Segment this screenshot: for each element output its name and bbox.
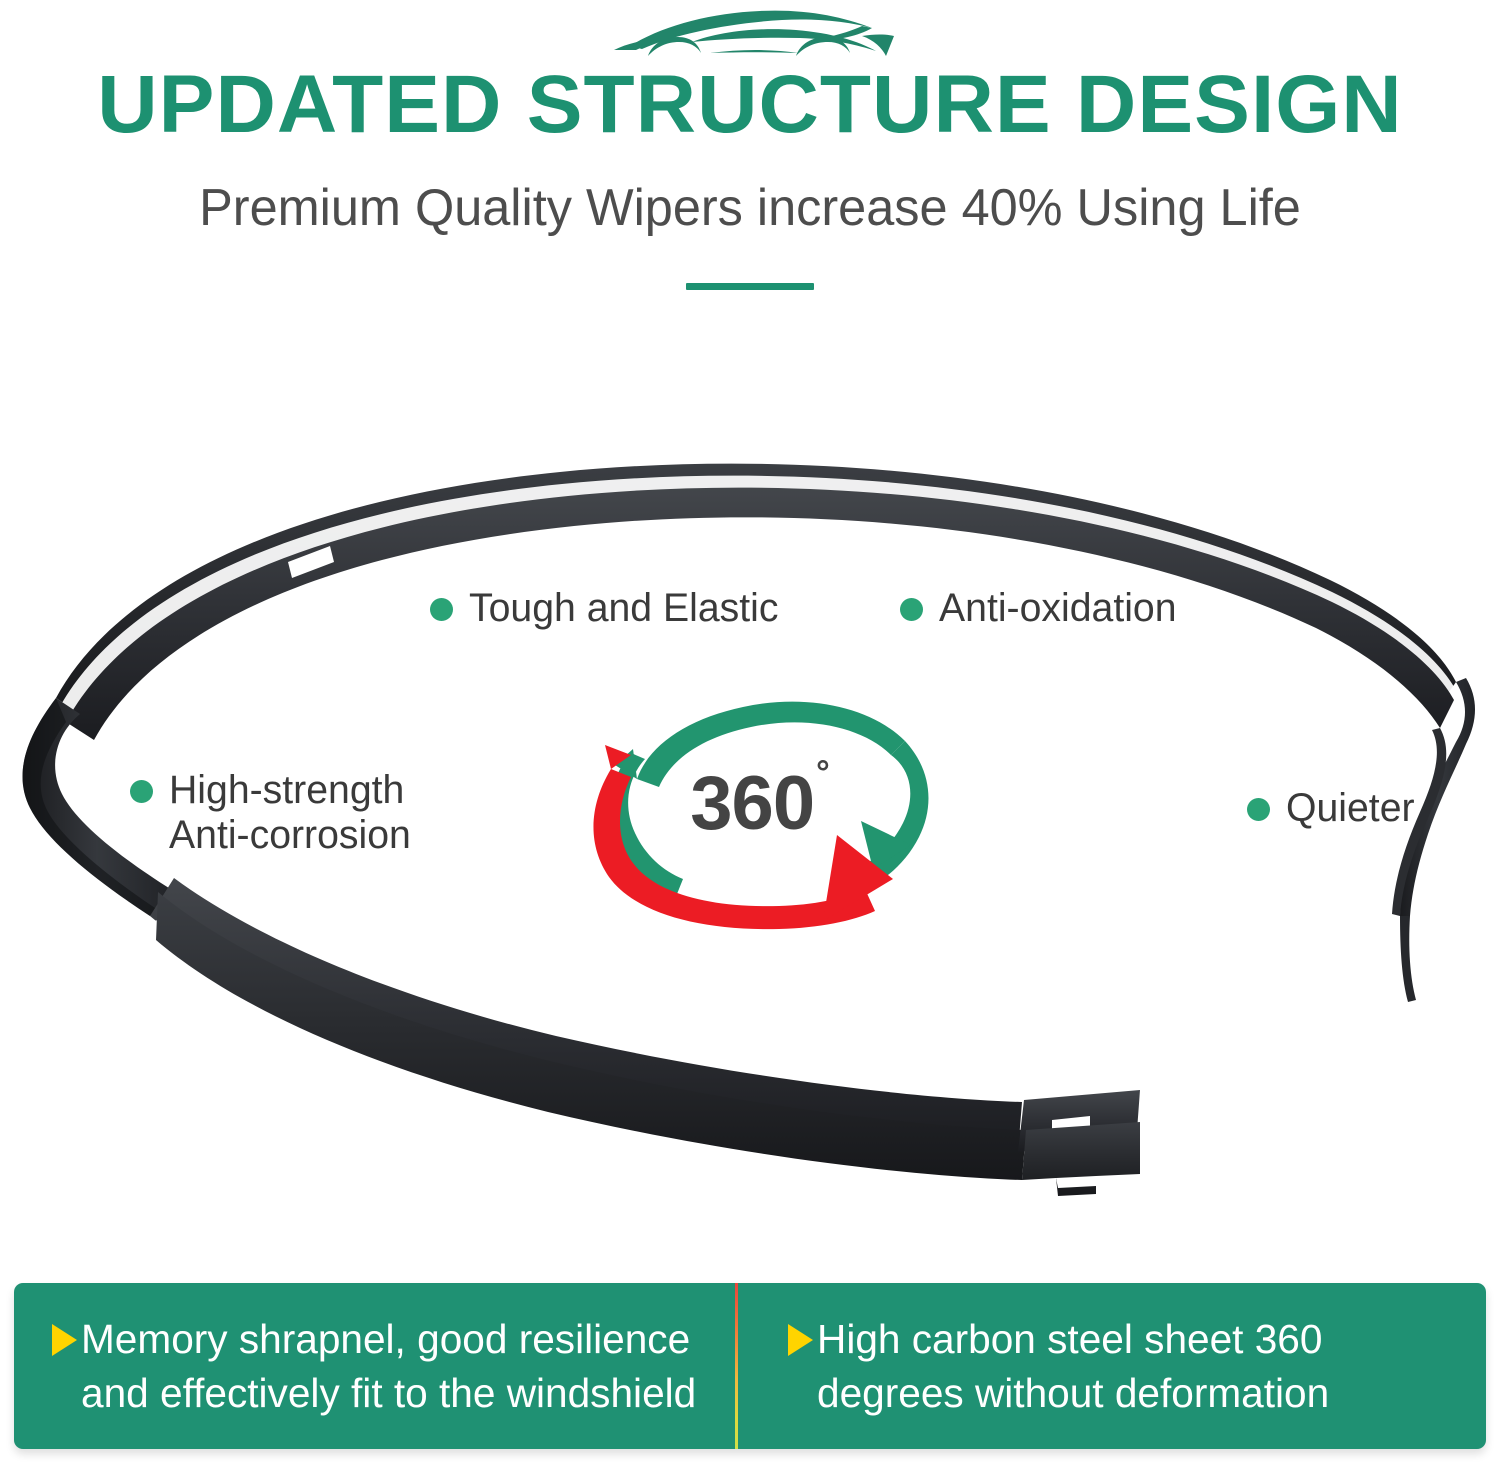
title-underline-rule xyxy=(686,283,814,290)
feature-label: Quieter xyxy=(1286,786,1415,831)
bottom-feature-banner: Memory shrapnel, good resilience and eff… xyxy=(14,1283,1486,1449)
page-title: UPDATED STRUCTURE DESIGN xyxy=(0,62,1500,148)
badge-360-degrees: 360 ° xyxy=(575,693,955,938)
banner-panel-memory-shrapnel: Memory shrapnel, good resilience and eff… xyxy=(14,1283,750,1449)
green-arc-upper xyxy=(637,702,905,787)
strip-notch-top-2 xyxy=(318,582,364,614)
feature-label: Tough and Elastic xyxy=(469,586,778,631)
sports-car-silhouette-icon xyxy=(600,6,900,62)
feature-label: Anti-oxidation xyxy=(939,586,1177,631)
triangle-bullet-icon xyxy=(52,1324,77,1356)
bullet-dot-icon xyxy=(1247,798,1270,821)
banner-panel-text: Memory shrapnel, good resilience and eff… xyxy=(81,1312,722,1420)
bullet-dot-icon xyxy=(130,780,153,803)
feature-tough-and-elastic: Tough and Elastic xyxy=(430,586,785,631)
triangle-bullet-icon xyxy=(788,1324,813,1356)
banner-divider xyxy=(735,1283,738,1449)
strip-right-tip xyxy=(1400,916,1416,1002)
feature-label: High-strength Anti-corrosion xyxy=(169,768,411,858)
banner-panel-text: High carbon steel sheet 360 degrees with… xyxy=(817,1312,1458,1420)
bullet-dot-icon xyxy=(900,598,923,621)
bullet-dot-icon xyxy=(430,598,453,621)
brand-logo xyxy=(0,6,1500,62)
page-subtitle: Premium Quality Wipers increase 40% Usin… xyxy=(23,178,1478,238)
feature-anti-oxidation: Anti-oxidation xyxy=(900,586,1181,631)
rotation-arrows-icon xyxy=(575,693,955,938)
feature-quieter: Quieter xyxy=(1247,786,1417,831)
banner-panel-high-carbon-steel: High carbon steel sheet 360 degrees with… xyxy=(750,1283,1486,1449)
strip-end-notch-lower xyxy=(1056,1176,1096,1188)
feature-high-strength-anti-corrosion: High-strength Anti-corrosion xyxy=(130,768,416,858)
